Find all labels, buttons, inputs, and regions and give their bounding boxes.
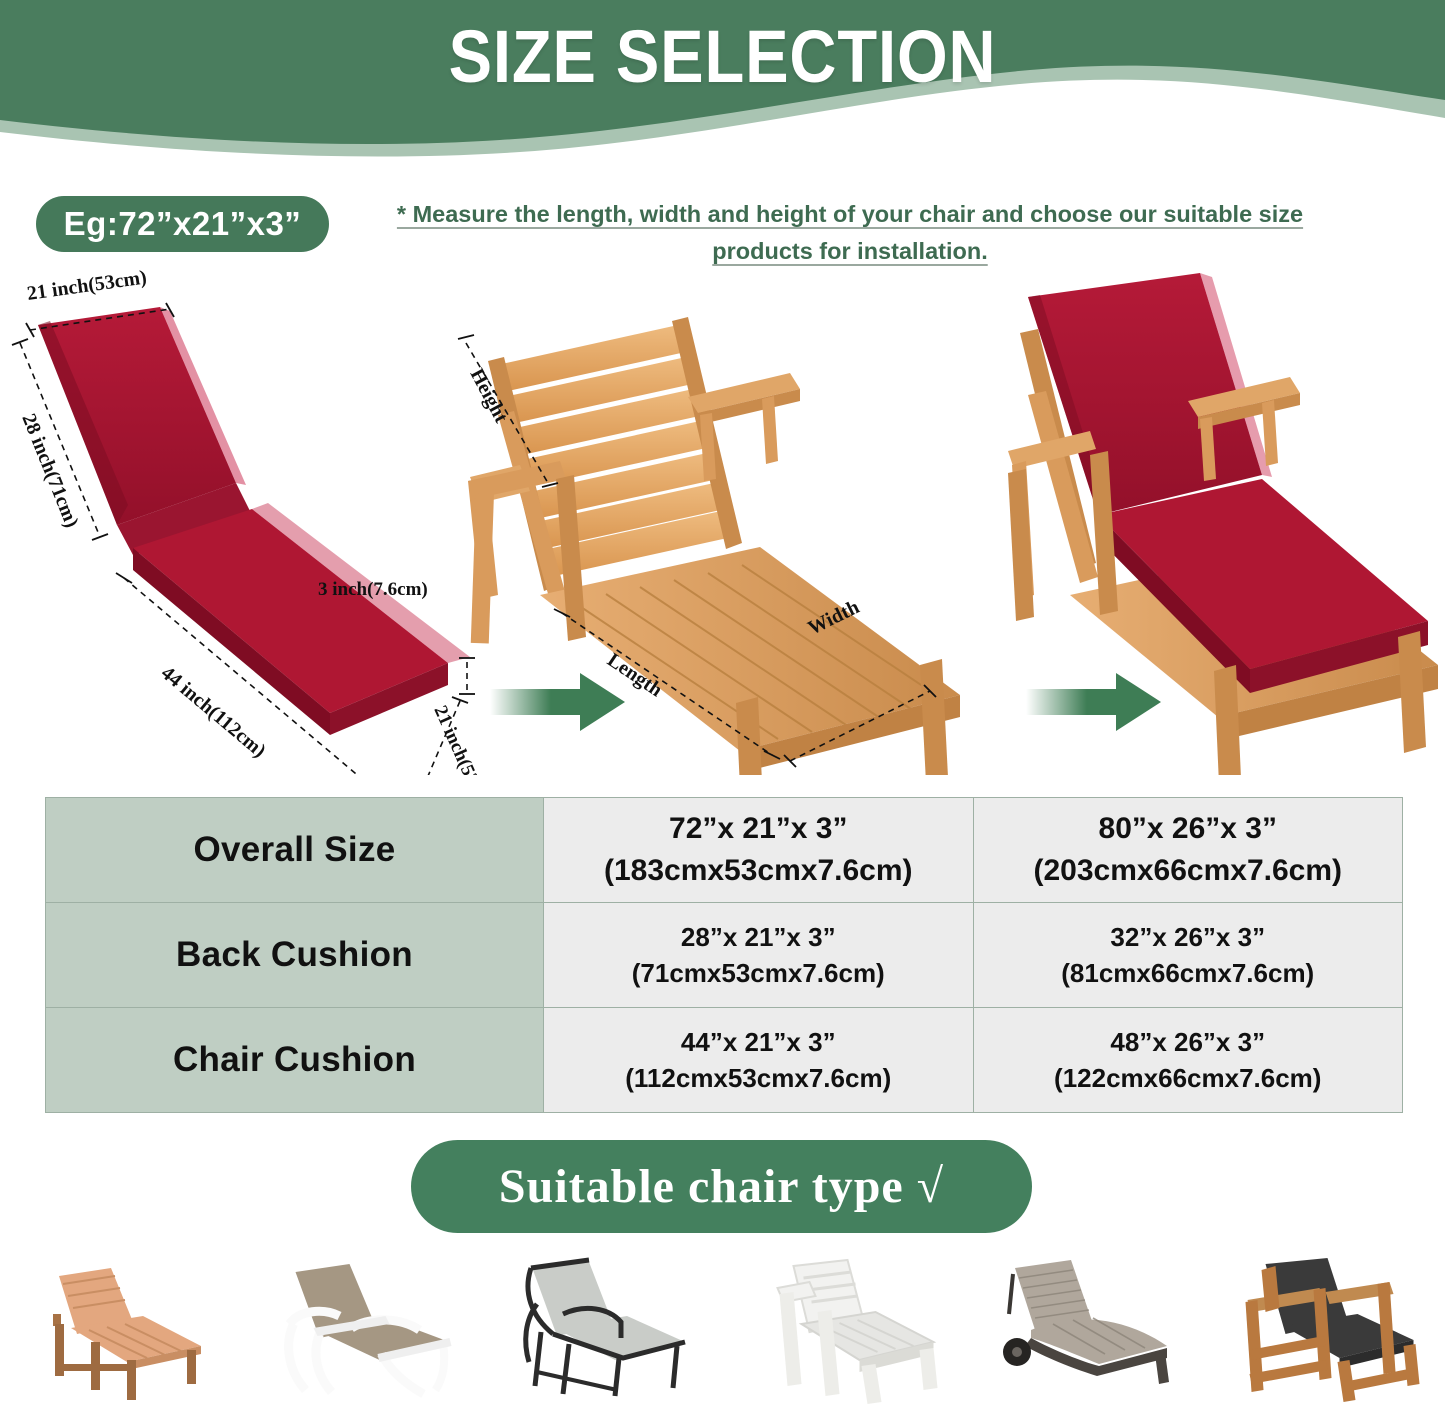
cell-chair-cushion-b: 48”x 26”x 3” (122cmx66cmx7.6cm) [973, 1008, 1403, 1113]
cell-cm: (122cmx66cmx7.6cm) [975, 1060, 1402, 1096]
cell-inches: 32”x 26”x 3” [975, 919, 1402, 955]
page-header: SIZE SELECTION [0, 0, 1445, 185]
chair-thumb-wood-slat-lounger [0, 1243, 241, 1414]
measure-instruction-line1: * Measure the length, width and height o… [397, 201, 1303, 227]
cell-inches: 72”x 21”x 3” [545, 808, 972, 850]
cell-back-cushion-b: 32”x 26”x 3” (81cmx66cmx7.6cm) [973, 903, 1403, 1008]
suitable-chair-thumbnails [0, 1243, 1445, 1414]
cell-cm: (71cmx53cmx7.6cm) [545, 955, 972, 991]
cell-inches: 44”x 21”x 3” [545, 1024, 972, 1060]
chair-thumb-white-plastic-lounger [722, 1243, 963, 1414]
chair-thumb-gray-wicker-lounger [963, 1243, 1204, 1414]
svg-text:3 inch(7.6cm): 3 inch(7.6cm) [318, 579, 428, 600]
cell-inches: 80”x 26”x 3” [975, 808, 1402, 850]
row-label-overall-size: Overall Size [46, 798, 544, 903]
cell-cm: (112cmx53cmx7.6cm) [545, 1060, 972, 1096]
chair-thumb-wood-frame-dark-cushion-lounger [1204, 1243, 1445, 1414]
svg-text:28 inch(71cm): 28 inch(71cm) [17, 411, 83, 531]
cell-cm: (183cmx53cmx7.6cm) [545, 850, 972, 892]
measure-instruction: * Measure the length, width and height o… [370, 196, 1330, 270]
cell-cm: (81cmx66cmx7.6cm) [975, 955, 1402, 991]
cell-overall-size-b: 80”x 26”x 3” (203cmx66cmx7.6cm) [973, 798, 1403, 903]
cell-overall-size-a: 72”x 21”x 3” (183cmx53cmx7.6cm) [544, 798, 974, 903]
arrow-right-icon-1 [490, 673, 625, 731]
chair-thumb-black-frame-gray-sling-lounger [482, 1243, 723, 1414]
dim-seat-width: 21 inch(53cm) [400, 697, 495, 775]
suitable-chair-type-badge: Suitable chair type √ [411, 1140, 1032, 1233]
cell-cm: (203cmx66cmx7.6cm) [975, 850, 1402, 892]
row-label-chair-cushion: Chair Cushion [46, 1008, 544, 1113]
arrow-right-icon-2 [1026, 673, 1161, 731]
svg-text:21 inch(53cm): 21 inch(53cm) [26, 266, 148, 305]
table-row: Back Cushion 28”x 21”x 3” (71cmx53cmx7.6… [46, 903, 1403, 1008]
red-cushion-illustration [38, 307, 470, 735]
chair-thumb-white-frame-tan-sling-lounger [241, 1243, 482, 1414]
example-size-badge: Eg:72”x21”x3” [36, 196, 329, 252]
cell-inches: 28”x 21”x 3” [545, 919, 972, 955]
page-title: SIZE SELECTION [87, 14, 1359, 99]
measure-instruction-line2: products for installation. [712, 238, 987, 264]
cell-back-cushion-a: 28”x 21”x 3” (71cmx53cmx7.6cm) [544, 903, 974, 1008]
row-label-back-cushion: Back Cushion [46, 903, 544, 1008]
svg-text:21 inch(53cm): 21 inch(53cm) [429, 702, 495, 775]
cell-inches: 48”x 26”x 3” [975, 1024, 1402, 1060]
cell-chair-cushion-a: 44”x 21”x 3” (112cmx53cmx7.6cm) [544, 1008, 974, 1113]
dimension-diagram: 21 inch(53cm) 28 inch(71cm) 44 inch(112c… [0, 265, 1445, 775]
table-row: Overall Size 72”x 21”x 3” (183cmx53cmx7.… [46, 798, 1403, 903]
table-row: Chair Cushion 44”x 21”x 3” (112cmx53cmx7… [46, 1008, 1403, 1113]
svg-text:44 inch(112cm): 44 inch(112cm) [157, 662, 270, 762]
specification-table: Overall Size 72”x 21”x 3” (183cmx53cmx7.… [45, 797, 1403, 1113]
